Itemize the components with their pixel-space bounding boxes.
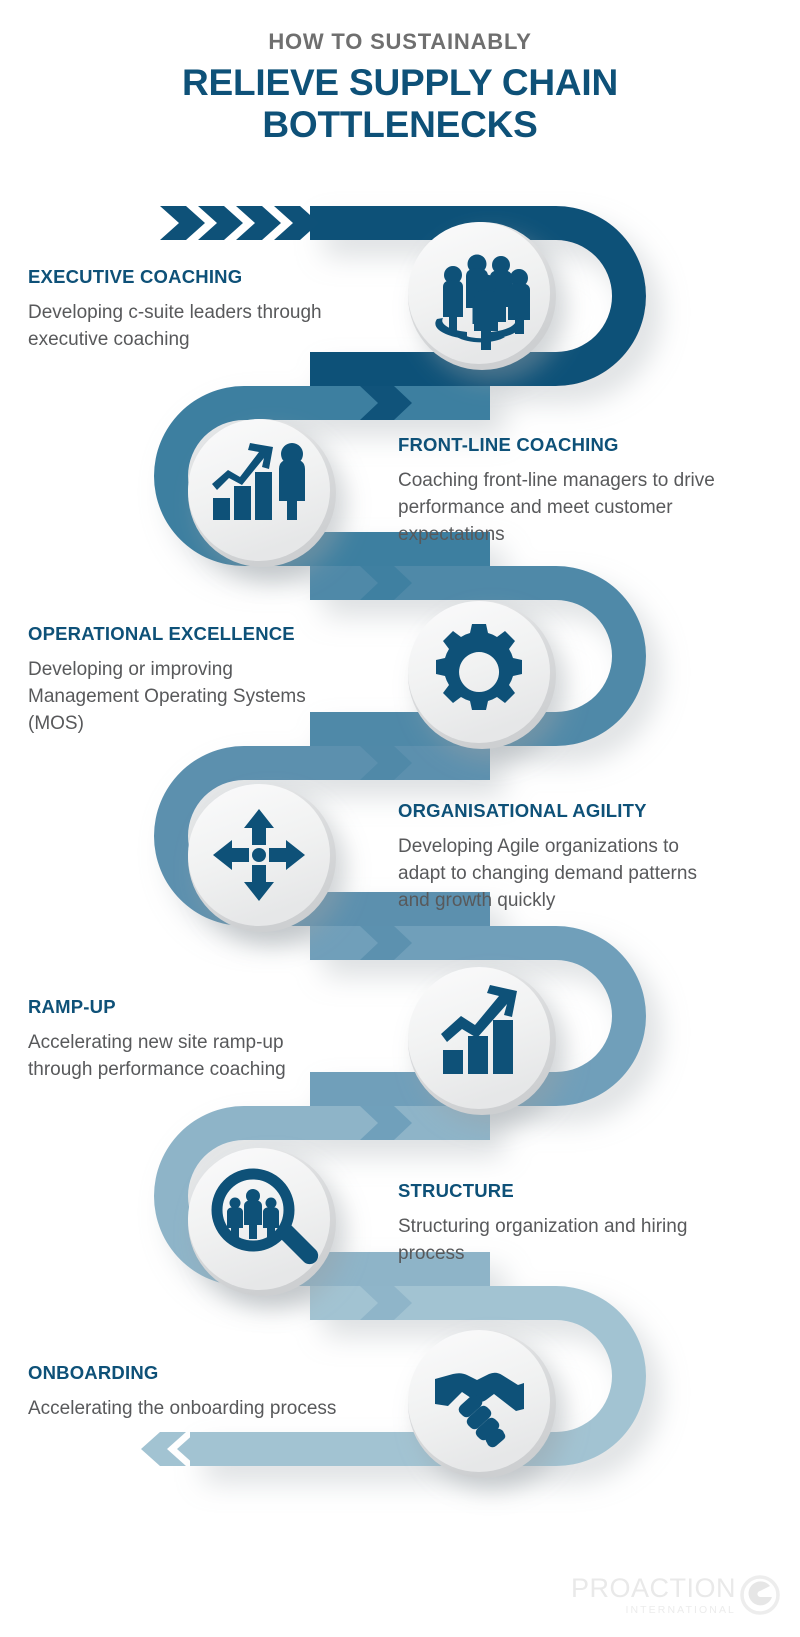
step-circle-operational-excellence[interactable] [408, 601, 556, 749]
step-text-ramp-up: RAMP-UP Accelerating new site ramp-up th… [28, 996, 348, 1083]
step-description: Developing or improving Management Opera… [28, 656, 348, 737]
step-text-onboarding: ONBOARDING Accelerating the onboarding p… [28, 1362, 348, 1422]
step-text-structure: STRUCTURE Structuring organization and h… [398, 1180, 698, 1267]
flow-start-chevrons [160, 206, 319, 240]
step-circle-structure[interactable] [188, 1148, 336, 1296]
step-text-operational-excellence: OPERATIONAL EXCELLENCE Developing or imp… [28, 623, 348, 737]
step-circle-organisational-agility[interactable] [188, 784, 336, 932]
step-text-organisational-agility: ORGANISATIONAL AGILITY Developing Agile … [398, 800, 728, 914]
step-title: ORGANISATIONAL AGILITY [398, 800, 728, 822]
step-description: Developing c-suite leaders through execu… [28, 299, 348, 353]
step-circle-ramp-up[interactable] [408, 967, 556, 1115]
step-description: Accelerating new site ramp-up through pe… [28, 1029, 348, 1083]
step-description: Developing Agile organizations to adapt … [398, 833, 728, 914]
step-text-front-line-coaching: FRONT-LINE COACHING Coaching front-line … [398, 434, 728, 548]
proaction-circle-mark-icon [740, 1575, 780, 1615]
logo-wordmark: PROACTION [571, 1575, 736, 1602]
step-circle-executive-coaching[interactable] [408, 222, 556, 370]
step-description: Structuring organization and hiring proc… [398, 1213, 698, 1267]
step-title: STRUCTURE [398, 1180, 698, 1202]
step-title: EXECUTIVE COACHING [28, 266, 348, 288]
step-circle-onboarding[interactable] [408, 1330, 556, 1478]
logo-tagline: INTERNATIONAL [625, 1605, 736, 1616]
step-title: FRONT-LINE COACHING [398, 434, 728, 456]
step-title: ONBOARDING [28, 1362, 348, 1384]
step-description: Coaching front-line managers to drive pe… [398, 467, 728, 548]
step-description: Accelerating the onboarding process [28, 1395, 348, 1422]
step-title: RAMP-UP [28, 996, 348, 1018]
proaction-logo: PROACTION INTERNATIONAL [571, 1575, 780, 1616]
step-title: OPERATIONAL EXCELLENCE [28, 623, 348, 645]
step-text-executive-coaching: EXECUTIVE COACHING Developing c-suite le… [28, 266, 348, 353]
step-circle-front-line-coaching[interactable] [188, 419, 336, 567]
